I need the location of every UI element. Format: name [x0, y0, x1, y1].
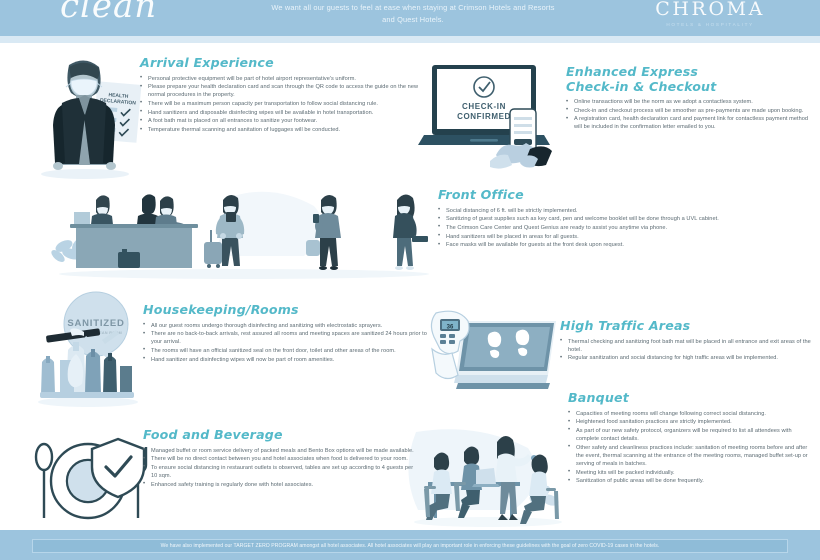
- list-item: Hand sanitizer and disinfecting wipes wi…: [143, 356, 433, 364]
- section-title: Arrival Experience: [140, 56, 420, 71]
- section-housekeeping-rooms: Housekeeping/Rooms All our guest rooms u…: [143, 303, 433, 364]
- section-high-traffic-areas: High Traffic Areas Thermal checking and …: [560, 319, 812, 363]
- section-bullets: Managed buffet or room service delivery …: [143, 447, 415, 489]
- section-food-and-beverage: Food and Beverage Managed buffet or room…: [143, 428, 415, 489]
- brand-logo: CHROMA HOTELS & HOSPITALITY: [655, 0, 765, 27]
- list-item: There will be a maximum person capacity …: [140, 100, 420, 108]
- list-item: The Crimson Care Center and Quest Genius…: [438, 224, 768, 232]
- svg-text:SANITIZED: SANITIZED: [67, 318, 124, 329]
- arrival-man-illustration: HEALTH DECLARATION: [22, 53, 148, 181]
- list-item: Meeting kits will be packed individually…: [568, 469, 816, 477]
- front-desk-queue-illustration: [44, 188, 434, 280]
- checkin-laptop-illustration: CHECK-IN CONFIRMED: [418, 57, 568, 185]
- section-arrival-experience: Arrival Experience Personal protective e…: [140, 56, 420, 135]
- list-item: Enhanced safety training is regularly do…: [143, 481, 415, 489]
- section-bullets: Social distancing of 6 ft. will be stric…: [438, 207, 768, 250]
- list-item: Managed buffet or room service delivery …: [143, 447, 415, 455]
- target-zero-banner: We have also implemented our TARGET ZERO…: [32, 539, 788, 553]
- food-safety-illustration: [26, 431, 152, 531]
- section-bullets: Personal protective equipment will be pa…: [140, 75, 420, 135]
- list-item: Sanitization of public areas will be don…: [568, 477, 816, 485]
- list-item: Personal protective equipment will be pa…: [140, 75, 420, 83]
- list-item: Check-in and checkout process will be sm…: [566, 107, 816, 115]
- list-item: Thermal checking and sanitizing foot bat…: [560, 338, 812, 354]
- list-item: Hand sanitizers will be placed in areas …: [438, 233, 768, 241]
- section-title: High Traffic Areas: [560, 319, 812, 334]
- foot-bath-mat-icon: [454, 321, 556, 389]
- section-banquet: Banquet Capacities of meeting rooms will…: [568, 391, 816, 486]
- list-item: A registration card, health declaration …: [566, 115, 816, 131]
- section-bullets: Thermal checking and sanitizing foot bat…: [560, 338, 812, 363]
- section-title: Banquet: [568, 391, 816, 406]
- section-enhanced-express-checkin: Enhanced Express Check-in & Checkout Onl…: [566, 65, 816, 132]
- list-item: Face masks will be available for guests …: [438, 241, 768, 249]
- header-divider: [0, 36, 820, 43]
- sanitized-seal-illustration: SANITIZED CERTIFIED CLEAN ROOM: [24, 290, 152, 410]
- brand-name: CHROMA: [655, 0, 765, 20]
- section-front-office: Front Office Social distancing of 6 ft. …: [438, 188, 768, 250]
- list-item: Sanitizing of guest supplies such as key…: [438, 215, 768, 223]
- section-title: Enhanced Express Check-in & Checkout: [566, 65, 816, 94]
- svg-text:CONFIRMED: CONFIRMED: [457, 112, 511, 121]
- list-item: The rooms will have an official sanitize…: [143, 347, 433, 355]
- footer-text: We have also implemented our TARGET ZERO…: [161, 543, 660, 549]
- list-item: A foot bath mat is placed on all entranc…: [140, 117, 420, 125]
- section-bullets: All our guest rooms undergo thorough dis…: [143, 322, 433, 364]
- banquet-meeting-illustration: [402, 426, 572, 534]
- section-bullets: Capacities of meeting rooms will change …: [568, 410, 816, 486]
- list-item: Online transactions will be the norm as …: [566, 98, 816, 106]
- svg-text:CHECK-IN: CHECK-IN: [462, 102, 506, 111]
- list-item: Hand sanitizers and disposable disinfect…: [140, 109, 420, 117]
- list-item: To ensure social distancing in restauran…: [143, 464, 415, 480]
- list-item: As part of our new safety protocol, orga…: [568, 427, 816, 443]
- header-tagline: We want all our guests to feel at ease w…: [268, 2, 558, 25]
- list-item: Capacities of meeting rooms will change …: [568, 410, 816, 418]
- list-item: Please prepare your health declaration c…: [140, 83, 420, 99]
- list-item: Social distancing of 6 ft. will be stric…: [438, 207, 768, 215]
- list-item: There will be no direct contact between …: [143, 455, 415, 463]
- section-bullets: Online transactions will be the norm as …: [566, 98, 816, 132]
- list-item: Other safety and cleanliness practices i…: [568, 444, 816, 468]
- section-title: Front Office: [438, 188, 768, 203]
- brand-subtitle: HOTELS & HOSPITALITY: [655, 22, 765, 27]
- section-title: Housekeeping/Rooms: [143, 303, 433, 318]
- svg-text:36: 36: [447, 325, 454, 331]
- list-item: All our guest rooms undergo thorough dis…: [143, 322, 433, 330]
- header-script-word: clean: [60, 0, 157, 26]
- page-header: clean We want all our guests to feel at …: [0, 0, 820, 36]
- thermal-footbath-illustration: 36: [420, 305, 560, 397]
- list-item: There are no back-to-back arrivals, rest…: [143, 330, 433, 346]
- list-item: Heightened food sanitation practices are…: [568, 418, 816, 426]
- list-item: Regular sanitization and social distanci…: [560, 354, 812, 362]
- guidelines-sheet: HEALTH DECLARATION: [0, 43, 820, 530]
- section-title: Food and Beverage: [143, 428, 415, 443]
- list-item: Temperature thermal scanning and sanitat…: [140, 126, 420, 134]
